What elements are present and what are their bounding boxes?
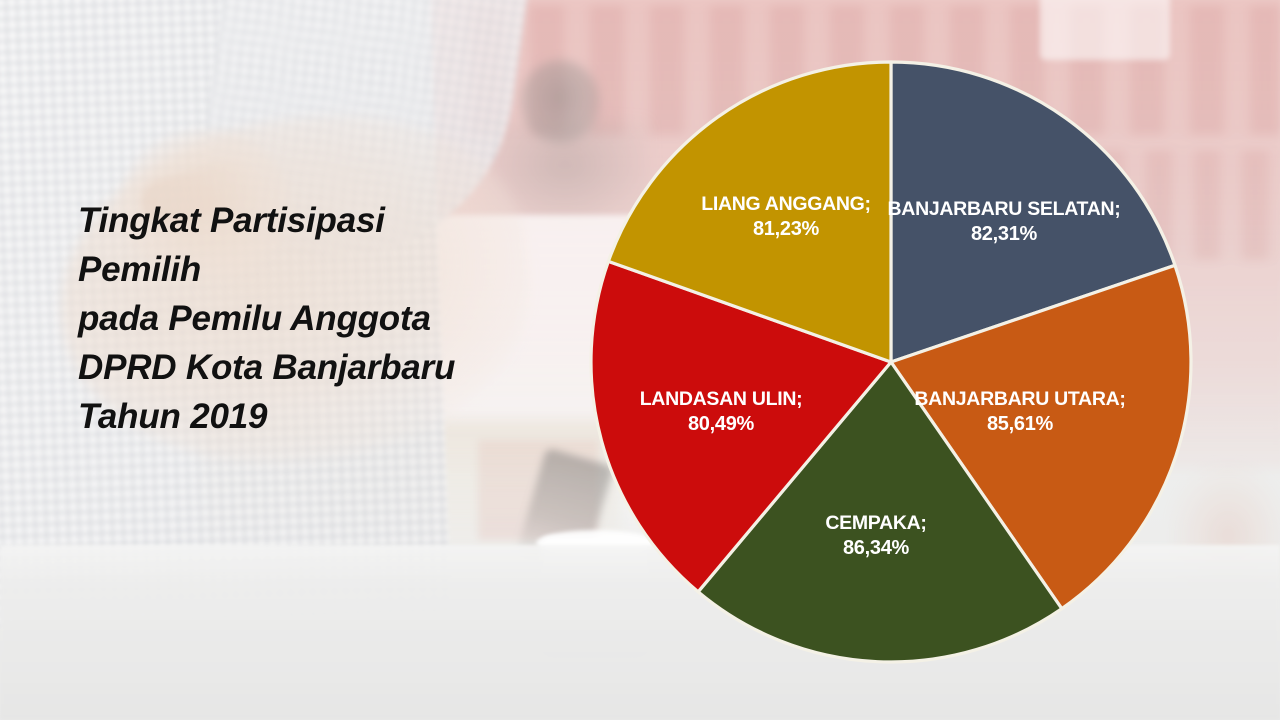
title-line: Tingkat Partisipasi (78, 196, 578, 245)
pie-slice-label-name: BANJARBARU SELATAN; (888, 198, 1121, 220)
pie-slice-label-name: LANDASAN ULIN; (640, 388, 803, 410)
pie-slice-label-name: BANJARBARU UTARA; (914, 388, 1125, 410)
infographic-canvas: Tingkat Partisipasi Pemilih pada Pemilu … (0, 0, 1280, 720)
pie-slice-label-value: 81,23% (753, 218, 820, 240)
page-title: Tingkat Partisipasi Pemilih pada Pemilu … (78, 196, 578, 441)
pie-chart-svg: BANJARBARU SELATAN;82,31%BANJARBARU UTAR… (576, 47, 1206, 677)
pie-slice-label-name: LIANG ANGGANG; (701, 193, 870, 215)
pie-slice-label-value: 86,34% (843, 537, 910, 559)
pie-slice-label-value: 82,31% (971, 223, 1038, 245)
pie-slice-group (591, 62, 1191, 662)
title-line: DPRD Kota Banjarbaru (78, 343, 578, 392)
pie-slice-label-value: 85,61% (987, 413, 1054, 435)
pie-slice-label-name: CEMPAKA; (825, 512, 926, 534)
title-line: pada Pemilu Anggota (78, 294, 578, 343)
pie-chart: BANJARBARU SELATAN;82,31%BANJARBARU UTAR… (576, 47, 1206, 677)
title-line: Tahun 2019 (78, 392, 578, 441)
title-line: Pemilih (78, 245, 578, 294)
pie-slice-label-value: 80,49% (688, 413, 755, 435)
